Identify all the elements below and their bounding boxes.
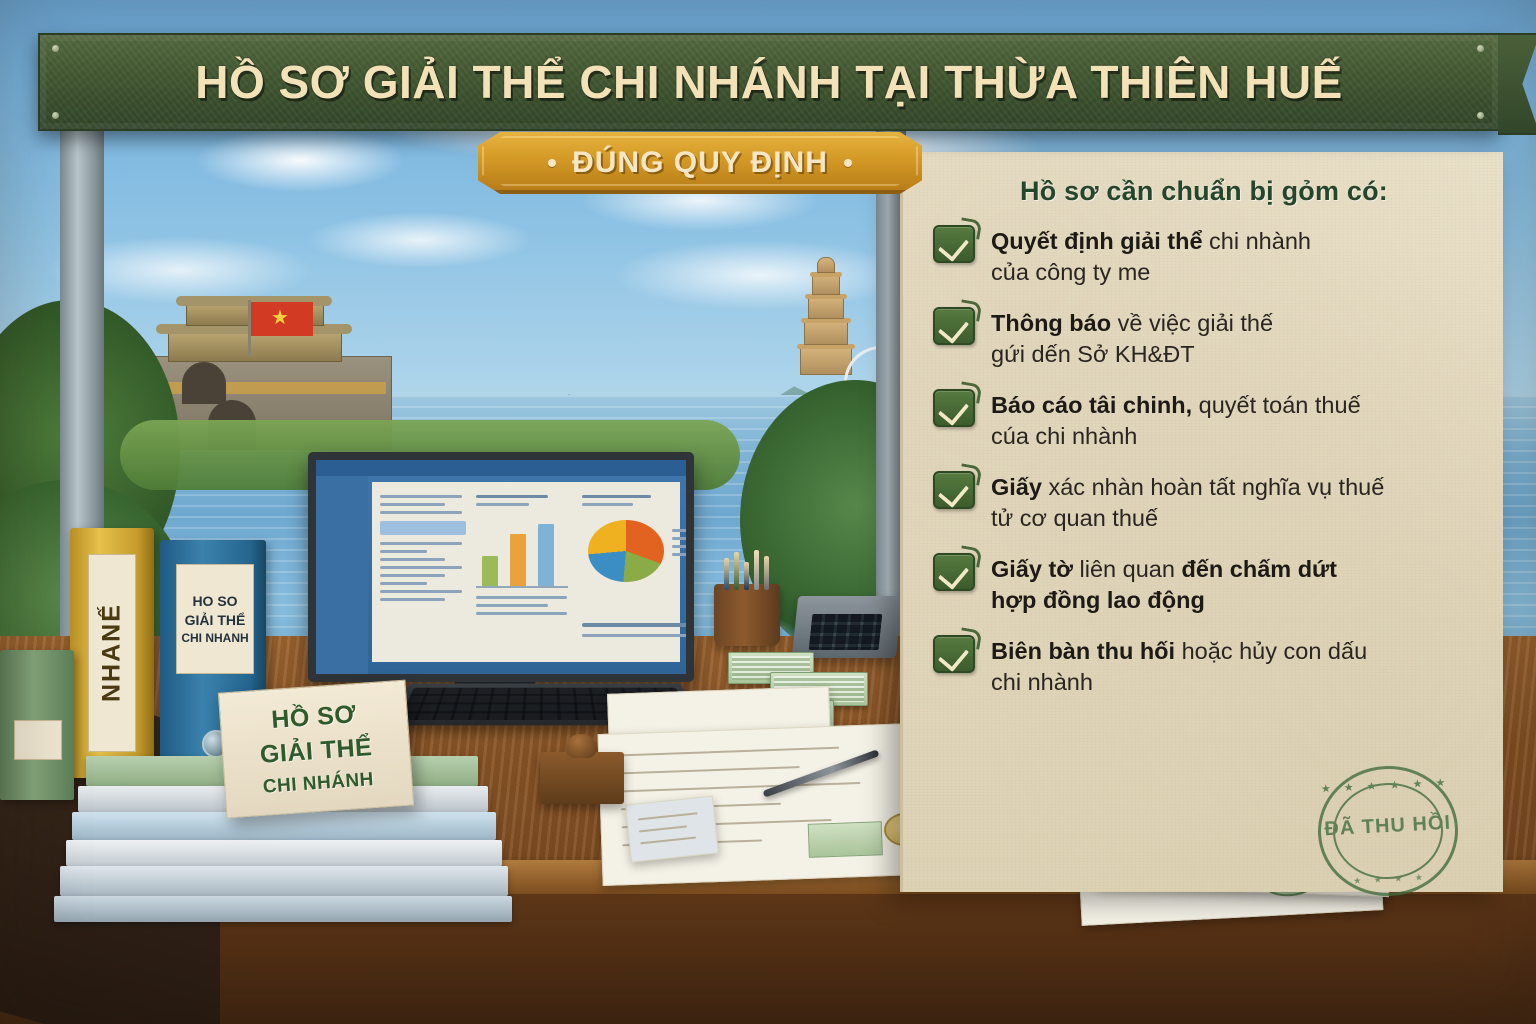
binder-yellow-label: NHANẾ [89, 555, 135, 751]
item-6-bold: Biên bàn thu hối [991, 638, 1175, 664]
checklist-item: Giấy xác nhàn hoàn tất nghĩa vụ thuế tử … [933, 471, 1475, 533]
checklist-item-text: Giấy tờ liên quan đến chấm dứt hợp đồng … [991, 553, 1337, 615]
checklist-item: Biên bàn thu hối hoặc hủy con dấu chi nh… [933, 635, 1475, 697]
checklist-item: Thông báo về việc giải thế gứi dến Sở KH… [933, 307, 1475, 369]
ribbon-dot-left [548, 159, 556, 167]
item-5-line2: hợp đồng lao động [991, 587, 1205, 613]
binder-blue-label-1: HO SO [192, 593, 237, 609]
binder-blue-label-3: CHI NHANH [181, 631, 248, 645]
item-4-bold: Giấy [991, 474, 1042, 500]
item-5-rest-bold: đến chấm dứt [1181, 556, 1336, 582]
item-6-line2: chi nhành [991, 669, 1093, 695]
checklist-item-text: Biên bàn thu hối hoặc hủy con dấu chi nh… [991, 635, 1367, 697]
checkbox-checked-icon[interactable] [933, 225, 975, 263]
item-5-rest: liên quan [1073, 556, 1181, 582]
pen-cup [714, 584, 780, 646]
screen-document [372, 482, 680, 662]
binder-blue-label-2: GIẢI THỂ [185, 612, 246, 628]
item-5-bold: Giấy tờ [991, 556, 1073, 582]
item-2-line2: gứi dến Sở KH&ĐT [991, 341, 1195, 367]
screen-bar-3 [538, 524, 554, 588]
checkbox-checked-icon[interactable] [933, 307, 975, 345]
item-1-rest: chi nhành [1203, 228, 1311, 254]
poster-canvas: NHANẾ HO SO GIẢI THỂ CHI NHANH HỒ SƠ GIẢ… [0, 0, 1536, 1024]
item-2-bold: Thông báo [991, 310, 1111, 336]
folder-stack-3 [72, 812, 496, 840]
subtitle-ribbon: ĐÚNG QUY ĐỊNH [478, 132, 922, 194]
page-title: HỒ SƠ GIẢI THỂ CHI NHÁNH TẠI THỪA THIÊN … [40, 35, 1498, 129]
checkbox-checked-icon[interactable] [933, 553, 975, 591]
item-3-rest: quyết toán thuế [1192, 392, 1361, 418]
checkbox-checked-icon[interactable] [933, 471, 975, 509]
checklist-item-text: Báo cáo tâi chinh, quyết toán thuế cúa c… [991, 389, 1361, 451]
header-banner: HỒ SƠ GIẢI THỂ CHI NHÁNH TẠI THỪA THIÊN … [38, 33, 1500, 131]
desk-card-line-2: GIẢI THỂ [222, 731, 410, 773]
item-3-bold: Báo cáo tâi chinh, [991, 392, 1192, 418]
desk-name-card: HỒ SƠ GIẢI THỂ CHI NHÁNH [218, 680, 414, 819]
desktop-monitor [308, 452, 694, 682]
item-2-rest: về việc giải thế [1111, 310, 1273, 336]
screen-pie-chart [588, 520, 664, 582]
office-telephone [792, 596, 903, 658]
item-6-rest: hoặc hủy con dấu [1175, 638, 1367, 664]
checklist-item: Quyết định giải thể chi nhành của công t… [933, 225, 1475, 287]
checklist-item: Giấy tờ liên quan đến chấm dứt hợp đồng … [933, 553, 1475, 615]
screen-bar-2 [510, 534, 526, 588]
checklist-item-text: Quyết định giải thể chi nhành của công t… [991, 225, 1311, 287]
stamp-handle [566, 734, 596, 758]
ribbon-dot-right [844, 159, 852, 167]
folder-stack-5 [60, 866, 508, 896]
wooden-stamp [540, 752, 624, 804]
banner-plate: HỒ SƠ GIẢI THỂ CHI NHÁNH TẠI THỪA THIÊN … [38, 33, 1500, 131]
desk-paper-small [625, 796, 719, 863]
screen-bar-1 [482, 556, 498, 588]
checklist-item-text: Thông báo về việc giải thế gứi dến Sở KH… [991, 307, 1273, 369]
revoked-seal: ★ ★ ★ ★ ★ ★ ĐÃ THU HỒI ★ ★ ★ ★ [1315, 762, 1462, 899]
checklist-heading: Hồ sơ cần chuẩn bị gỏm có: [933, 176, 1475, 207]
checkbox-checked-icon[interactable] [933, 635, 975, 673]
binder-green [0, 650, 74, 800]
folder-stack-bottom [54, 896, 512, 922]
item-4-line2: tử cơ quan thuế [991, 505, 1158, 531]
item-4-rest: xác nhàn hoàn tất nghĩa vụ thuế [1042, 474, 1384, 500]
binder-yellow: NHANẾ [70, 528, 154, 778]
item-3-line2: cúa chi nhành [991, 423, 1137, 449]
checkbox-checked-icon[interactable] [933, 389, 975, 427]
vietnam-flag [251, 302, 313, 336]
checklist-item: Báo cáo tâi chinh, quyết toán thuế cúa c… [933, 389, 1475, 451]
checklist-item-text: Giấy xác nhàn hoàn tất nghĩa vụ thuế tử … [991, 471, 1384, 533]
item-1-line2: của công ty me [991, 259, 1150, 285]
subtitle-text: ĐÚNG QUY ĐỊNH [572, 146, 828, 180]
item-1-bold: Quyết định giải thể [991, 228, 1203, 254]
monitor-screen [316, 460, 686, 674]
desk-card-line-3: CHI NHÁNH [225, 766, 412, 801]
folder-stack-4 [66, 840, 502, 866]
